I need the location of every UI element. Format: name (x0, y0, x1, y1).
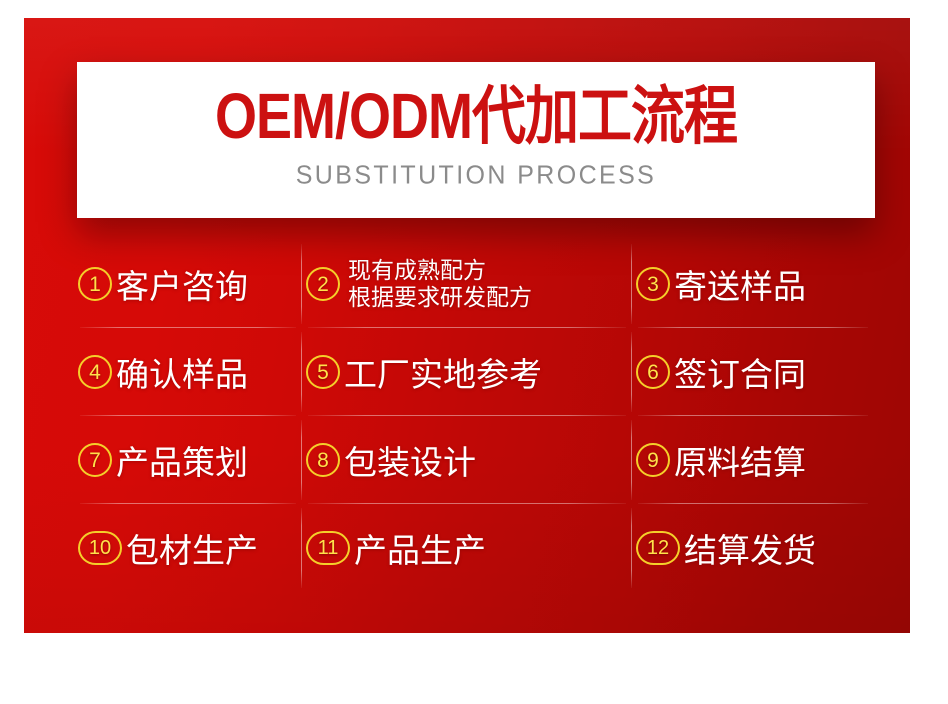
step-label: 寄送样品 (674, 260, 806, 308)
step-cell-8[interactable]: 8 包装设计 (302, 416, 632, 504)
step-cell-6[interactable]: 6 签订合同 (632, 328, 874, 416)
step-label: 产品生产 (354, 524, 486, 572)
step-cell-9[interactable]: 9 原料结算 (632, 416, 874, 504)
step-number-badge: 2 (306, 267, 340, 301)
steps-grid: 1 客户咨询 2 现有成熟配方 根据要求研发配方 3 寄送样品 4 确认样品 (74, 240, 874, 592)
step-label-line-1: 现有成熟配方 (348, 257, 532, 284)
page-title: OEM/ODM代加工流程 (215, 85, 737, 150)
step-number-badge: 4 (78, 355, 112, 389)
step-cell-3[interactable]: 3 寄送样品 (632, 240, 874, 328)
poster-root: OEM/ODM代加工流程 SUBSTITUTION PROCESS 1 客户咨询… (0, 0, 948, 704)
step-label: 客户咨询 (116, 260, 248, 308)
step-cell-4[interactable]: 4 确认样品 (74, 328, 302, 416)
step-label: 产品策划 (116, 436, 248, 484)
page-subtitle: SUBSTITUTION PROCESS (296, 160, 657, 190)
step-number-badge: 7 (78, 443, 112, 477)
step-number-badge: 1 (78, 267, 112, 301)
step-number-badge: 3 (636, 267, 670, 301)
step-number-badge: 10 (78, 531, 122, 565)
step-cell-10[interactable]: 10 包材生产 (74, 504, 302, 592)
step-label: 结算发货 (684, 524, 816, 572)
step-cell-12[interactable]: 12 结算发货 (632, 504, 874, 592)
step-label: 原料结算 (674, 436, 806, 484)
step-label: 确认样品 (116, 348, 248, 396)
step-label: 现有成熟配方 根据要求研发配方 (348, 257, 532, 311)
step-number-badge: 5 (306, 355, 340, 389)
step-label: 包装设计 (344, 436, 476, 484)
step-number-badge: 6 (636, 355, 670, 389)
step-number-badge: 12 (636, 531, 680, 565)
step-label-line-2: 根据要求研发配方 (348, 284, 532, 311)
step-number-badge: 11 (306, 531, 350, 565)
red-background-panel: OEM/ODM代加工流程 SUBSTITUTION PROCESS 1 客户咨询… (24, 18, 910, 633)
step-number-badge: 8 (306, 443, 340, 477)
step-cell-2[interactable]: 2 现有成熟配方 根据要求研发配方 (302, 240, 632, 328)
step-number-badge: 9 (636, 443, 670, 477)
step-cell-7[interactable]: 7 产品策划 (74, 416, 302, 504)
step-label: 签订合同 (674, 348, 806, 396)
step-label: 包材生产 (126, 524, 258, 572)
step-cell-1[interactable]: 1 客户咨询 (74, 240, 302, 328)
step-cell-11[interactable]: 11 产品生产 (302, 504, 632, 592)
step-cell-5[interactable]: 5 工厂实地参考 (302, 328, 632, 416)
title-card: OEM/ODM代加工流程 SUBSTITUTION PROCESS (77, 62, 875, 218)
step-label: 工厂实地参考 (344, 348, 542, 396)
